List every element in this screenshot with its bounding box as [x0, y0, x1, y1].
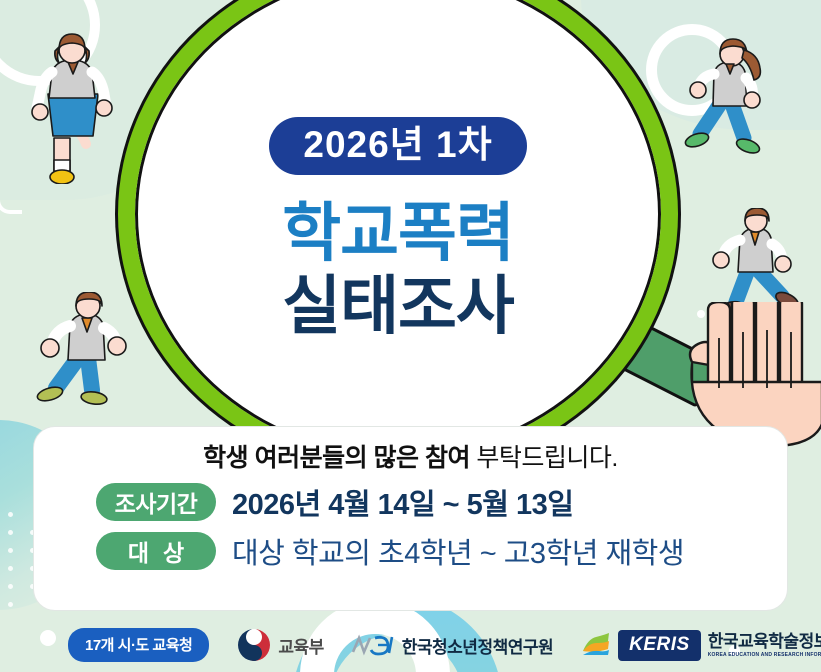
korea-government-taegeuk-icon [237, 628, 271, 662]
footer-offices-pill: 17개 시·도 교육청 [68, 628, 209, 662]
footer-nypi: 한국청소년정책연구원 [351, 633, 553, 658]
year-badge: 2026년 1차 [269, 117, 526, 175]
keris-symbol-icon [581, 631, 611, 659]
value-survey-period: 2026년 4월 14일 ~ 5월 13일 [232, 481, 573, 523]
footer-nypi-label: 한국청소년정책연구원 [402, 633, 553, 658]
info-row-period: 조사기간 2026년 4월 14일 ~ 5월 13일 [34, 481, 787, 523]
footer-moe-label: 교육부 [278, 633, 323, 658]
footer-keris-sub: KOREA EDUCATION AND RESEARCH INFORMATION… [708, 652, 821, 658]
nypi-logo-icon [351, 634, 395, 656]
student-character-icon [30, 32, 116, 184]
footer-keris-label: 한국교육학술정보원 [708, 633, 821, 650]
headline-group: 2026년 1차 학교폭력 실태조사 [118, 0, 678, 474]
hook-decoration [0, 180, 22, 214]
panel-lead-bold: 학생 여러분들의 많은 참여 [203, 444, 470, 472]
footer-keris: KERIS 한국교육학술정보원 KOREA EDUCATION AND RESE… [581, 630, 821, 661]
info-panel: 학생 여러분들의 많은 참여 부탁드립니다. 조사기간 2026년 4월 14일… [33, 426, 788, 611]
poster-root: 2026년 1차 학교폭력 실태조사 학생 여러분들의 많은 참여 부탁드립니다… [0, 0, 821, 672]
keris-wordmark: KERIS [618, 630, 701, 661]
keris-name-block: 한국교육학술정보원 KOREA EDUCATION AND RESEARCH I… [708, 633, 821, 658]
footer-moe: 교육부 [237, 628, 323, 662]
info-row-target: 대상 대상 학교의 초4학년 ~ 고3학년 재학생 [34, 530, 787, 572]
panel-lead-regular: 부탁드립니다. [470, 444, 618, 472]
page-title-line-2: 실태조사 [282, 272, 514, 341]
label-survey-target: 대상 [96, 532, 216, 570]
footer-logos: 17개 시·도 교육청 교육부 한국청소년정책연구원 [0, 618, 821, 672]
panel-lead-text: 학생 여러분들의 많은 참여 부탁드립니다. [34, 443, 787, 474]
value-survey-target: 대상 학교의 초4학년 ~ 고3학년 재학생 [232, 530, 684, 572]
page-title-line-1: 학교폭력 [282, 199, 514, 268]
student-character-icon [684, 38, 770, 166]
label-survey-period: 조사기간 [96, 483, 216, 521]
